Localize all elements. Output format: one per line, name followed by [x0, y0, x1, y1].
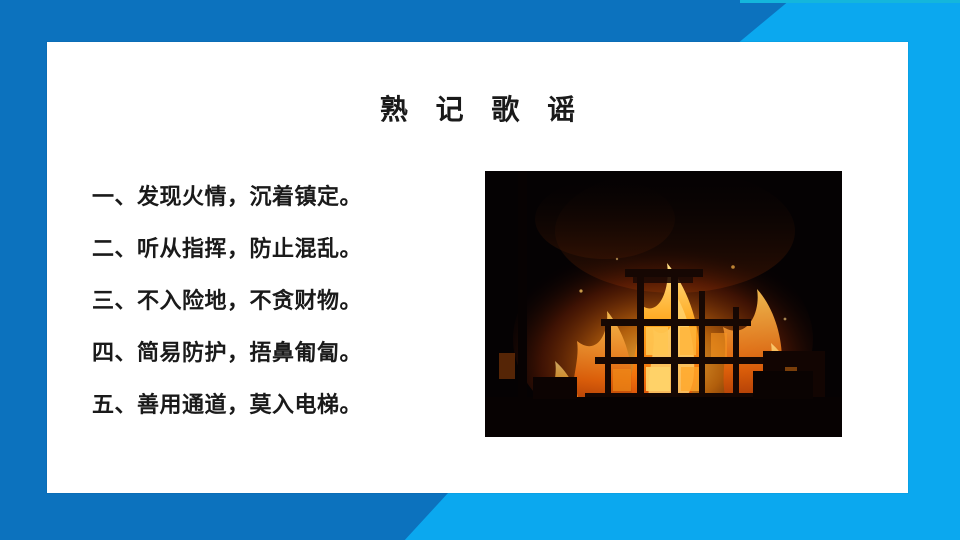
verse-item-1: 一、发现火情，沉着镇定。 [92, 172, 492, 224]
verse-item-4: 四、简易防护，捂鼻匍匐。 [92, 328, 492, 380]
verse-item-5: 五、善用通道，莫入电梯。 [92, 380, 492, 432]
fire-illustration [485, 171, 842, 437]
verse-list: 一、发现火情，沉着镇定。 二、听从指挥，防止混乱。 三、不入险地，不贪财物。 四… [92, 172, 492, 432]
background-top-hairline [740, 0, 960, 3]
burning-building-photo [485, 171, 842, 437]
verse-item-3: 三、不入险地，不贪财物。 [92, 276, 492, 328]
slide-canvas: 熟 记 歌 谣 一、发现火情，沉着镇定。 二、听从指挥，防止混乱。 三、不入险地… [0, 0, 960, 540]
page-title: 熟 记 歌 谣 [47, 88, 908, 128]
background-dark-blue-top-band [0, 0, 790, 42]
verse-item-2: 二、听从指挥，防止混乱。 [92, 224, 492, 276]
background-dark-blue-left-band [0, 0, 47, 540]
content-card: 熟 记 歌 谣 一、发现火情，沉着镇定。 二、听从指挥，防止混乱。 三、不入险地… [47, 42, 908, 493]
